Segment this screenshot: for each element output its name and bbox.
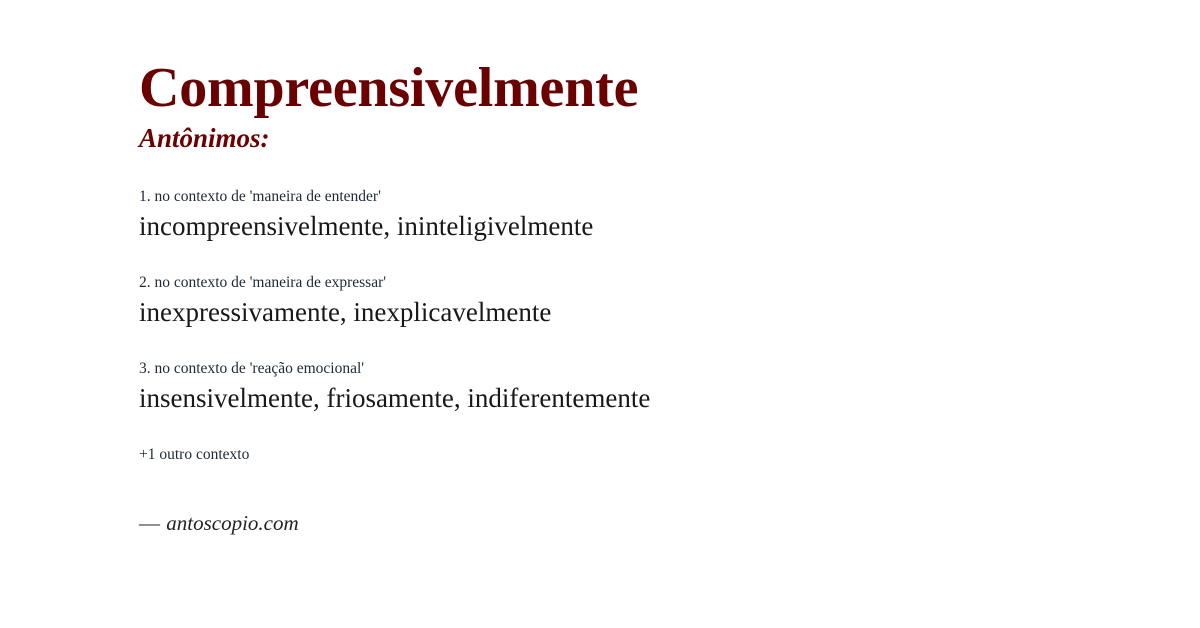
sense-entry: 1. no contexto de 'maneira de entender' … [139, 187, 1140, 243]
sense-context-label: 3. no contexto de 'reação emocional' [139, 359, 1140, 379]
card-content: Compreensivelmente Antônimos: 1. no cont… [139, 56, 1140, 536]
attribution: — antoscopio.com [139, 510, 1140, 536]
attribution-source: antoscopio.com [166, 511, 298, 535]
sense-antonym-words: inexpressivamente, inexplicavelmente [139, 295, 1140, 329]
sense-antonym-words: insensivelmente, friosamente, indiferent… [139, 381, 1140, 415]
sense-list: 1. no contexto de 'maneira de entender' … [139, 187, 1140, 415]
em-dash-icon: — [139, 511, 161, 535]
sense-context-label: 1. no contexto de 'maneira de entender' [139, 187, 1140, 207]
sense-antonym-words: incompreensivelmente, ininteligivelmente [139, 209, 1140, 243]
antonym-card: Compreensivelmente Antônimos: 1. no cont… [0, 0, 1200, 628]
section-label-antonyms: Antônimos: [139, 122, 1140, 154]
page-title: Compreensivelmente [139, 56, 1140, 120]
sense-entry: 2. no contexto de 'maneira de expressar'… [139, 273, 1140, 329]
sense-context-label: 2. no contexto de 'maneira de expressar' [139, 273, 1140, 293]
more-contexts-note: +1 outro contexto [139, 445, 1140, 465]
sense-entry: 3. no contexto de 'reação emocional' ins… [139, 359, 1140, 415]
